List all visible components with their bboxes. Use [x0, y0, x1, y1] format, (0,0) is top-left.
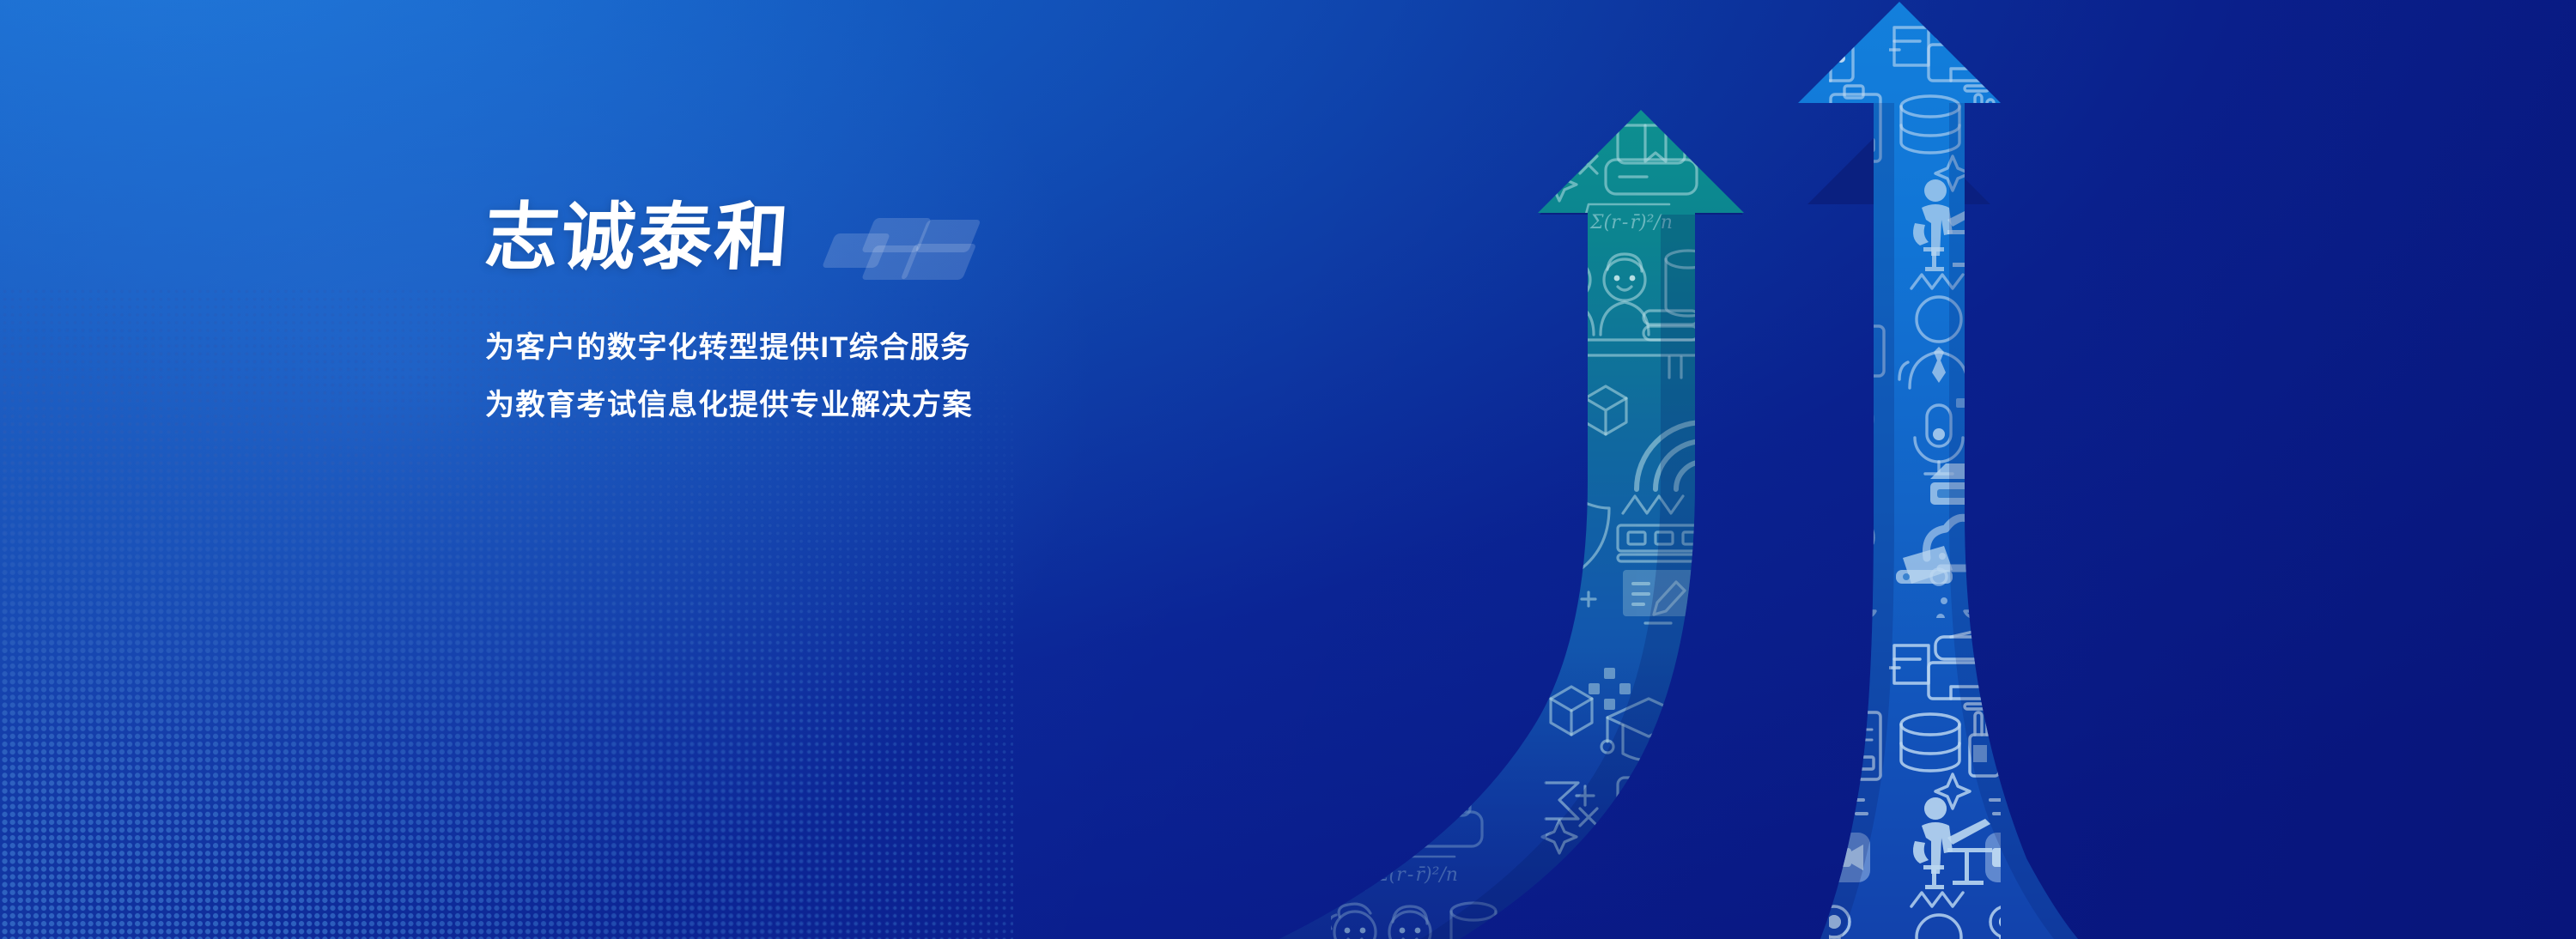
arrows-graphic: Σ(r - r̄)²/n	[0, 0, 2576, 939]
background-sheen	[0, 0, 2576, 939]
background-glow	[0, 0, 1443, 939]
tagline-line-2: 为教育考试信息化提供专业解决方案	[485, 384, 1224, 427]
tagline-block: 为客户的数字化转型提供IT综合服务 为教育考试信息化提供专业解决方案	[485, 326, 1224, 427]
headline-block: 志诚泰和 为客户的数字化转型提供IT综合服务 为教育考试信息化提供专业解决方案	[485, 199, 1224, 441]
hero-banner: Σ(r - r̄)²/n	[0, 0, 2576, 939]
page-title: 志诚泰和	[483, 199, 793, 276]
parallelogram-logo-mark-icon	[829, 215, 992, 282]
brand-row: 志诚泰和	[485, 199, 1224, 300]
tagline-line-1: 为客户的数字化转型提供IT综合服务	[485, 326, 1224, 370]
